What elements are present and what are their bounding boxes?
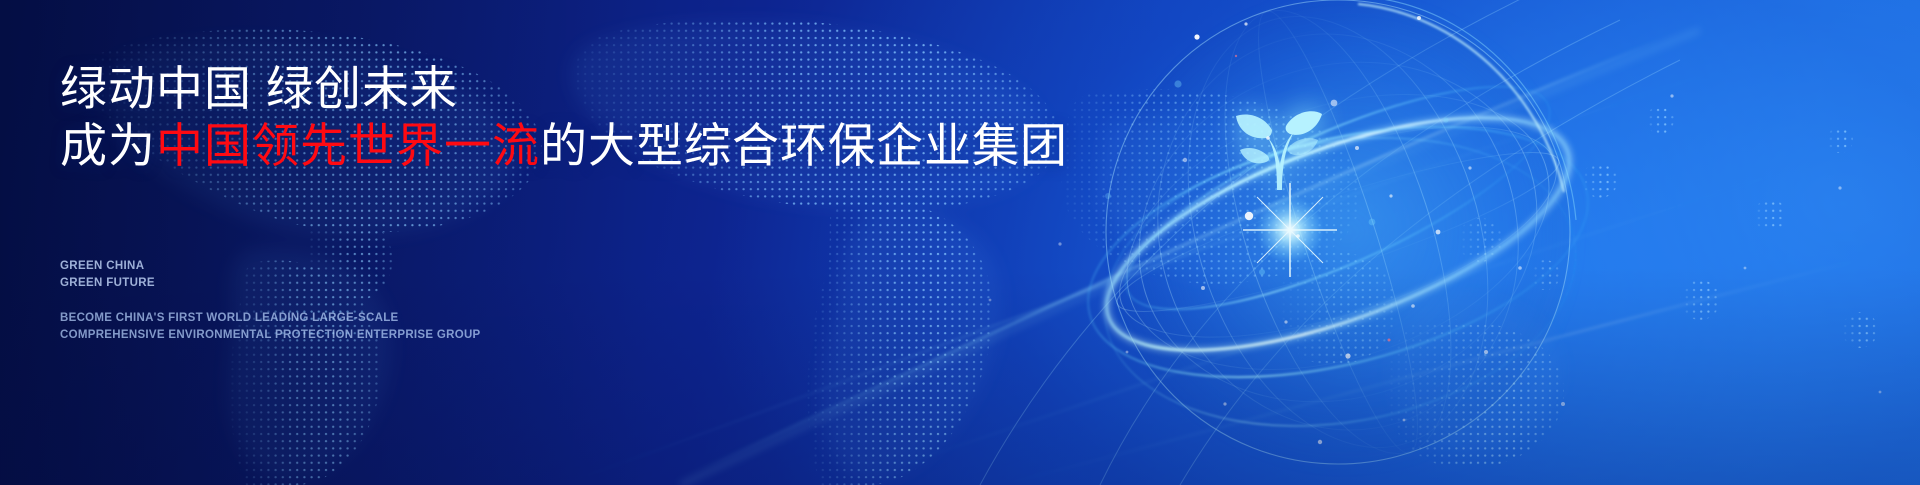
sprout-leaf-icon [1228, 104, 1324, 194]
english-slogan-line-2: GREEN FUTURE [60, 275, 155, 292]
english-slogan-line-1: GREEN CHINA [60, 258, 155, 275]
english-description-line-1: BECOME CHINA'S FIRST WORLD LEADING LARGE… [60, 310, 481, 327]
headline-line-2-highlight: 中国领先世界一流 [156, 119, 540, 172]
headline-line-2-suffix: 的大型综合环保企业集团 [540, 119, 1068, 172]
hero-banner: 绿动中国 绿创未来 成为中国领先世界一流的大型综合环保企业集团 GREEN CH… [0, 0, 1920, 485]
english-description-line-2: COMPREHENSIVE ENVIRONMENTAL PROTECTION E… [60, 327, 481, 344]
english-slogan: GREEN CHINA GREEN FUTURE [60, 258, 155, 291]
headline-block: 绿动中国 绿创未来 成为中国领先世界一流的大型综合环保企业集团 [60, 62, 1060, 174]
headline-line-1: 绿动中国 绿创未来 [60, 62, 1060, 117]
english-description: BECOME CHINA'S FIRST WORLD LEADING LARGE… [60, 310, 481, 343]
headline-line-2: 成为中国领先世界一流的大型综合环保企业集团 [60, 119, 1060, 174]
headline-line-2-prefix: 成为 [60, 119, 156, 172]
